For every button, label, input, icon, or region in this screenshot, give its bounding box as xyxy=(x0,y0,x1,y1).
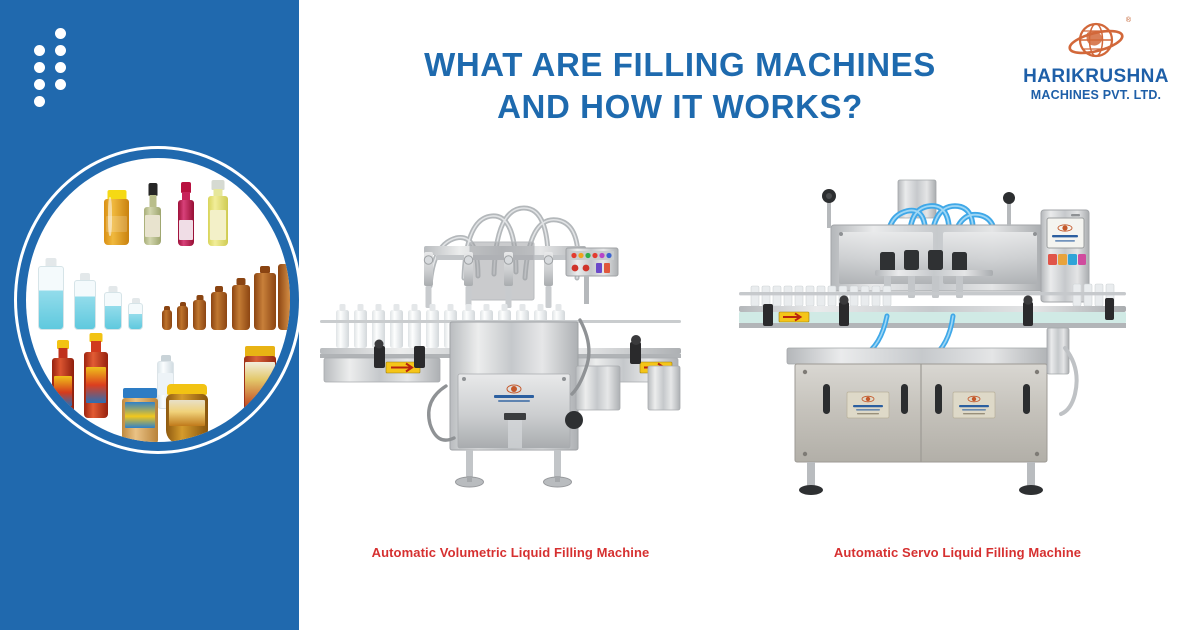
bottle-label xyxy=(145,215,159,237)
jar-label xyxy=(245,362,274,406)
bottle-blue-liquid-s xyxy=(128,298,143,330)
bottle-body xyxy=(278,264,290,330)
bottle-label xyxy=(86,367,106,403)
bottle-blue-liquid-xl xyxy=(38,258,64,330)
bottle-body xyxy=(74,280,96,330)
bottle-body xyxy=(232,285,250,330)
bottle-body xyxy=(104,292,122,330)
hmi-panel xyxy=(1041,210,1089,302)
logo-company-name: HARIKRUSHNA xyxy=(1008,67,1184,87)
bottle-body xyxy=(128,303,143,330)
bottle-red-sauce-2 xyxy=(84,333,108,418)
bottle-honey-square-jar xyxy=(104,190,129,245)
page-title: What are Filling Machines and how it wor… xyxy=(330,44,1030,127)
bottle-cap xyxy=(260,266,270,273)
bottle-amber-7 xyxy=(278,256,290,330)
bottle-lemon-oil xyxy=(208,180,228,246)
bottle-pink-syrup xyxy=(178,182,194,246)
logo-company-subtitle: MACHINES PVT. LTD. xyxy=(1008,88,1184,102)
circle-white-face xyxy=(26,158,290,442)
page-title-line-1: What are Filling Machines xyxy=(424,46,936,83)
control-panel xyxy=(566,248,618,304)
bottle-amber-4 xyxy=(211,286,227,330)
dot-icon xyxy=(55,79,66,90)
bottle-body xyxy=(254,273,276,330)
jar-label xyxy=(125,402,155,428)
bottle-body xyxy=(211,292,227,330)
bottle-label xyxy=(54,376,72,406)
bottle-blue-liquid-l xyxy=(74,273,96,330)
bottle-sheen xyxy=(108,197,112,237)
bottle-olive-oil xyxy=(144,183,161,245)
company-logo[interactable]: ® HARIKRUSHNA MACHINES PVT. LTD. xyxy=(1008,20,1184,102)
bottle-body xyxy=(38,266,64,330)
jar-peanut-butter xyxy=(122,388,158,442)
bottle-cap xyxy=(286,256,291,264)
dot-icon xyxy=(34,62,45,73)
bottle-red-sauce-1 xyxy=(52,340,74,418)
dot-icon xyxy=(55,45,66,56)
jar-honey xyxy=(166,384,208,442)
bottle-label xyxy=(179,220,192,240)
bottle-amber-6 xyxy=(254,266,276,330)
bottle-amber-2 xyxy=(177,302,188,330)
dot-icon xyxy=(55,62,66,73)
jar-pickle xyxy=(244,346,276,416)
globe-ring-icon: ® xyxy=(1065,20,1127,64)
jar-label xyxy=(169,400,206,426)
bottle-body xyxy=(162,310,172,330)
dot-icon xyxy=(34,45,45,56)
machine-image-automatic-volumetric-liquid-filling-machine xyxy=(318,170,683,520)
cabinet-brand-plate-right xyxy=(953,392,995,418)
machine-image-automatic-servo-liquid-filling-machine xyxy=(735,170,1130,515)
banner-canvas: What are Filling Machines and how it wor… xyxy=(0,0,1200,630)
bottle-body xyxy=(177,306,188,330)
dot-icon xyxy=(34,79,45,90)
page-title-line-2: and how it works? xyxy=(330,86,1030,128)
machine-2-caption: Automatic Servo Liquid Filling Machine xyxy=(740,545,1175,560)
bottle-amber-5 xyxy=(232,278,250,330)
conveyor-direction-decal xyxy=(779,312,809,322)
cabinet-brand-plate-left xyxy=(847,392,889,418)
jar-cap xyxy=(123,388,157,398)
bottle-label xyxy=(210,210,227,240)
bottle-amber-3 xyxy=(193,295,206,330)
dot-icon xyxy=(55,28,66,39)
registered-trademark-symbol: ® xyxy=(1126,17,1131,24)
machine-1-caption: Automatic Volumetric Liquid Filling Mach… xyxy=(318,545,703,560)
product-bottles-collage xyxy=(8,140,308,460)
bottle-blue-liquid-m xyxy=(104,286,122,330)
dot-grid-decoration xyxy=(28,28,74,100)
bottle-body xyxy=(193,300,206,330)
bottle-amber-1 xyxy=(162,306,172,330)
dot-icon xyxy=(34,96,45,107)
bottle-cap xyxy=(237,278,246,285)
